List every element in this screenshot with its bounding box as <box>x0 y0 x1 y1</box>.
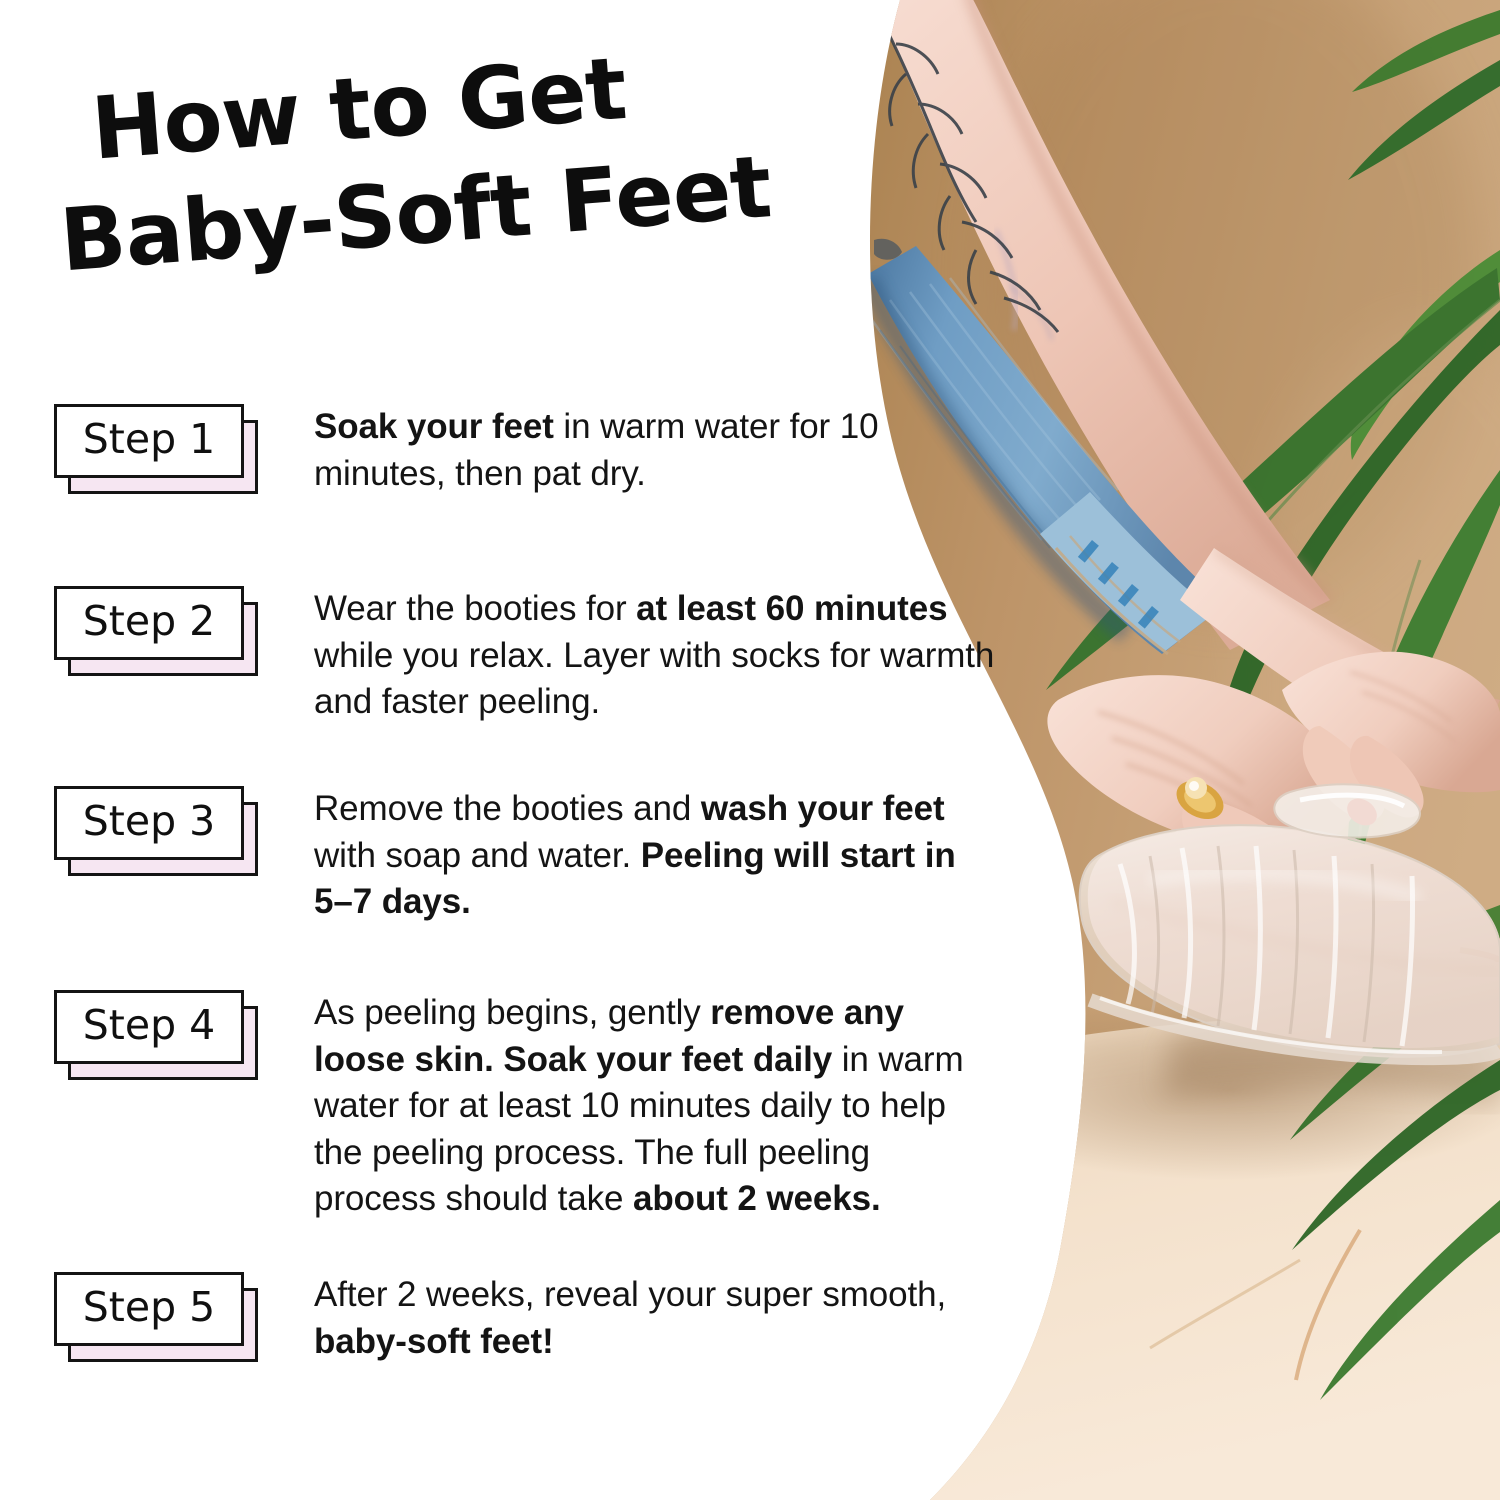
step-badge-front: Step 2 <box>54 586 244 660</box>
step-row: Step 2 Wear the booties for at least 60 … <box>0 586 1010 726</box>
content-column: How to Get Baby-Soft Feet Step 1 Soak yo… <box>0 0 1010 1500</box>
step-description: Wear the booties for at least 60 minutes… <box>314 586 1010 726</box>
page-title: How to Get Baby-Soft Feet <box>88 23 822 291</box>
step-badge-front: Step 3 <box>54 786 244 860</box>
step-badge-front: Step 4 <box>54 990 244 1064</box>
step-badge: Step 2 <box>54 586 262 678</box>
step-row: Step 5 After 2 weeks, reveal your super … <box>0 1272 1010 1365</box>
step-description: Soak your feet in warm water for 10 minu… <box>314 404 1010 497</box>
step-row: Step 3 Remove the booties and wash your … <box>0 786 1010 926</box>
step-badge-label: Step 5 <box>83 1287 215 1331</box>
step-badge-label: Step 1 <box>83 419 215 463</box>
step-badge: Step 4 <box>54 990 262 1082</box>
step-description: After 2 weeks, reveal your super smooth,… <box>314 1272 1010 1365</box>
step-row: Step 1 Soak your feet in warm water for … <box>0 404 1010 497</box>
step-badge-label: Step 3 <box>83 801 215 845</box>
step-badge-front: Step 1 <box>54 404 244 478</box>
step-badge: Step 3 <box>54 786 262 878</box>
step-badge-front: Step 5 <box>54 1272 244 1346</box>
step-badge: Step 5 <box>54 1272 262 1364</box>
step-row: Step 4 As peeling begins, gently remove … <box>0 990 1010 1223</box>
infographic-canvas: How to Get Baby-Soft Feet Step 1 Soak yo… <box>0 0 1500 1500</box>
step-description: Remove the booties and wash your feet wi… <box>314 786 1010 926</box>
step-badge-label: Step 4 <box>83 1005 215 1049</box>
step-description: As peeling begins, gently remove any loo… <box>314 990 1010 1223</box>
step-badge: Step 1 <box>54 404 262 496</box>
step-badge-label: Step 2 <box>83 601 215 645</box>
